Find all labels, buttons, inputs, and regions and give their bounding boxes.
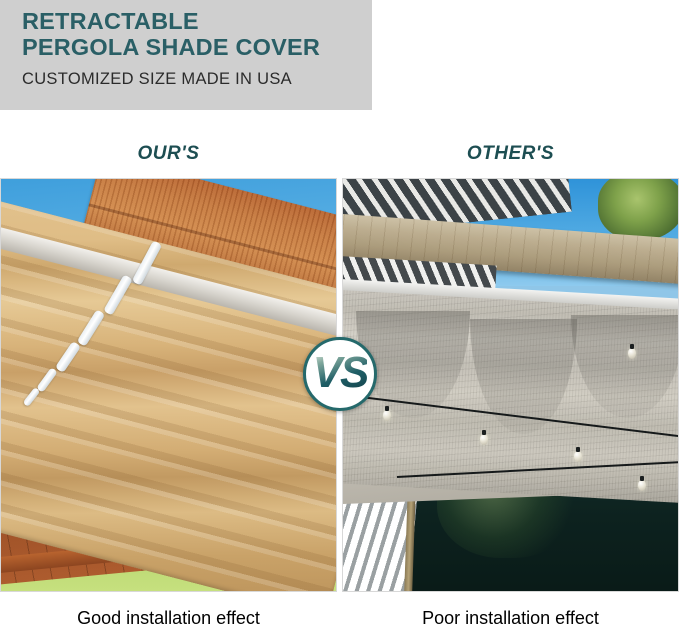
page-title: RETRACTABLE PERGOLA SHADE COVER: [22, 8, 362, 60]
vs-badge-label: VS: [313, 351, 368, 398]
string-light-bulb: [383, 410, 391, 421]
caption-poor-installation: Poor installation effect: [342, 608, 679, 629]
page-subtitle: CUSTOMIZED SIZE MADE IN USA: [22, 70, 292, 89]
photo-poor-installation: [342, 178, 679, 592]
string-light-bulb: [628, 348, 636, 359]
label-ours: OUR'S: [0, 143, 337, 165]
header-banner: RETRACTABLE PERGOLA SHADE COVER CUSTOMIZ…: [0, 0, 372, 110]
infographic-page: RETRACTABLE PERGOLA SHADE COVER CUSTOMIZ…: [0, 0, 679, 635]
label-others: OTHER'S: [342, 143, 679, 165]
string-light-bulb: [638, 480, 646, 491]
vs-badge: VS: [303, 337, 377, 411]
caption-good-installation: Good installation effect: [0, 608, 337, 629]
background-tree: [598, 178, 679, 241]
photo-good-installation: [0, 178, 337, 592]
